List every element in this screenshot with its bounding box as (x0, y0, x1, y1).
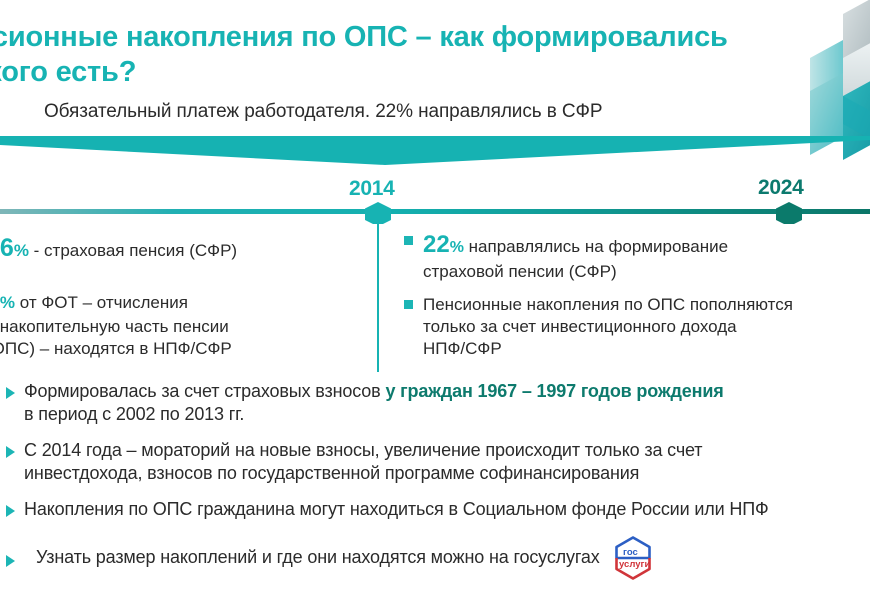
left-percent-16: % (14, 241, 29, 260)
timeline-year-2014: 2014 (349, 177, 395, 201)
bottom-text-4: Узнать размер накоплений и где они наход… (36, 546, 600, 569)
left-percent-6: % (0, 293, 15, 312)
square-bullet-icon (404, 236, 413, 245)
right-text-ops: Пенсионные накопления по ОПС пополняются… (423, 294, 870, 359)
list-item: Накопления по ОПС гражданина могут наход… (0, 498, 870, 521)
right-column: 22% направлялись на формирование страхов… (404, 230, 870, 372)
bottom-post-1: в период с 2002 по 2013 гг. (24, 404, 244, 424)
left-text-6: от ФОТ – отчисления в накопительную част… (0, 293, 232, 359)
page-subtitle: Обязательный платеж работодателя. 22% на… (44, 101, 602, 123)
left-column: 16% - страховая пенсия (СФР) 6% от ФОТ –… (0, 232, 346, 360)
list-item: С 2014 года – мораторий на новые взносы,… (0, 439, 870, 485)
left-text-16: - страховая пенсия (СФР) (29, 241, 237, 260)
slide: Пенсионные накопления по ОПС – как форми… (0, 0, 870, 590)
right-body-ops: Пенсионные накопления по ОПС пополняются… (423, 295, 793, 358)
right-body-22: направлялись на формирование страховой п… (423, 237, 728, 281)
right-value-22: 22 (423, 231, 450, 258)
triangle-bullet-icon (6, 555, 15, 567)
triangle-bullet-icon (6, 387, 15, 399)
triangle-bullet-icon (6, 446, 15, 458)
bottom-text-1: Формировалась за счет страховых взносов … (24, 380, 870, 426)
bottom-bullet-list: Формировалась за счет страховых взносов … (0, 380, 870, 590)
list-item: Узнать размер накоплений и где они наход… (0, 534, 870, 580)
bottom-text-2: С 2014 года – мораторий на новые взносы,… (24, 439, 870, 485)
left-block-16: 16% - страховая пенсия (СФР) (0, 232, 346, 265)
list-item: Формировалась за счет страховых взносов … (0, 380, 870, 426)
timeline-axis (0, 200, 870, 224)
gosuslugi-logo-icon[interactable]: гос услуги (612, 535, 654, 581)
left-block-6: 6% от ФОТ – отчисления в накопительную ч… (0, 284, 346, 361)
page-title: Пенсионные накопления по ОПС – как форми… (0, 20, 838, 91)
bottom-text-3: Накопления по ОПС гражданина могут наход… (24, 498, 870, 521)
right-text-22: 22% направлялись на формирование страхов… (423, 230, 870, 282)
bottom-pre-1: Формировалась за счет страховых взносов (24, 381, 385, 401)
uslugi-label: услуги (619, 559, 650, 570)
square-bullet-icon (404, 300, 413, 309)
timeline-year-2024: 2024 (758, 176, 804, 200)
chevron-band (0, 136, 870, 170)
timeline-divider (377, 214, 379, 372)
right-percent-22: % (450, 239, 464, 256)
right-item-ops: Пенсионные накопления по ОПС пополняются… (404, 294, 870, 359)
gos-label: гос (623, 547, 638, 558)
bottom-highlight-1: у граждан 1967 – 1997 годов рождения (385, 381, 723, 401)
left-value-16: 16 (0, 234, 14, 262)
right-item-22: 22% направлялись на формирование страхов… (404, 230, 870, 282)
triangle-bullet-icon (6, 505, 15, 517)
